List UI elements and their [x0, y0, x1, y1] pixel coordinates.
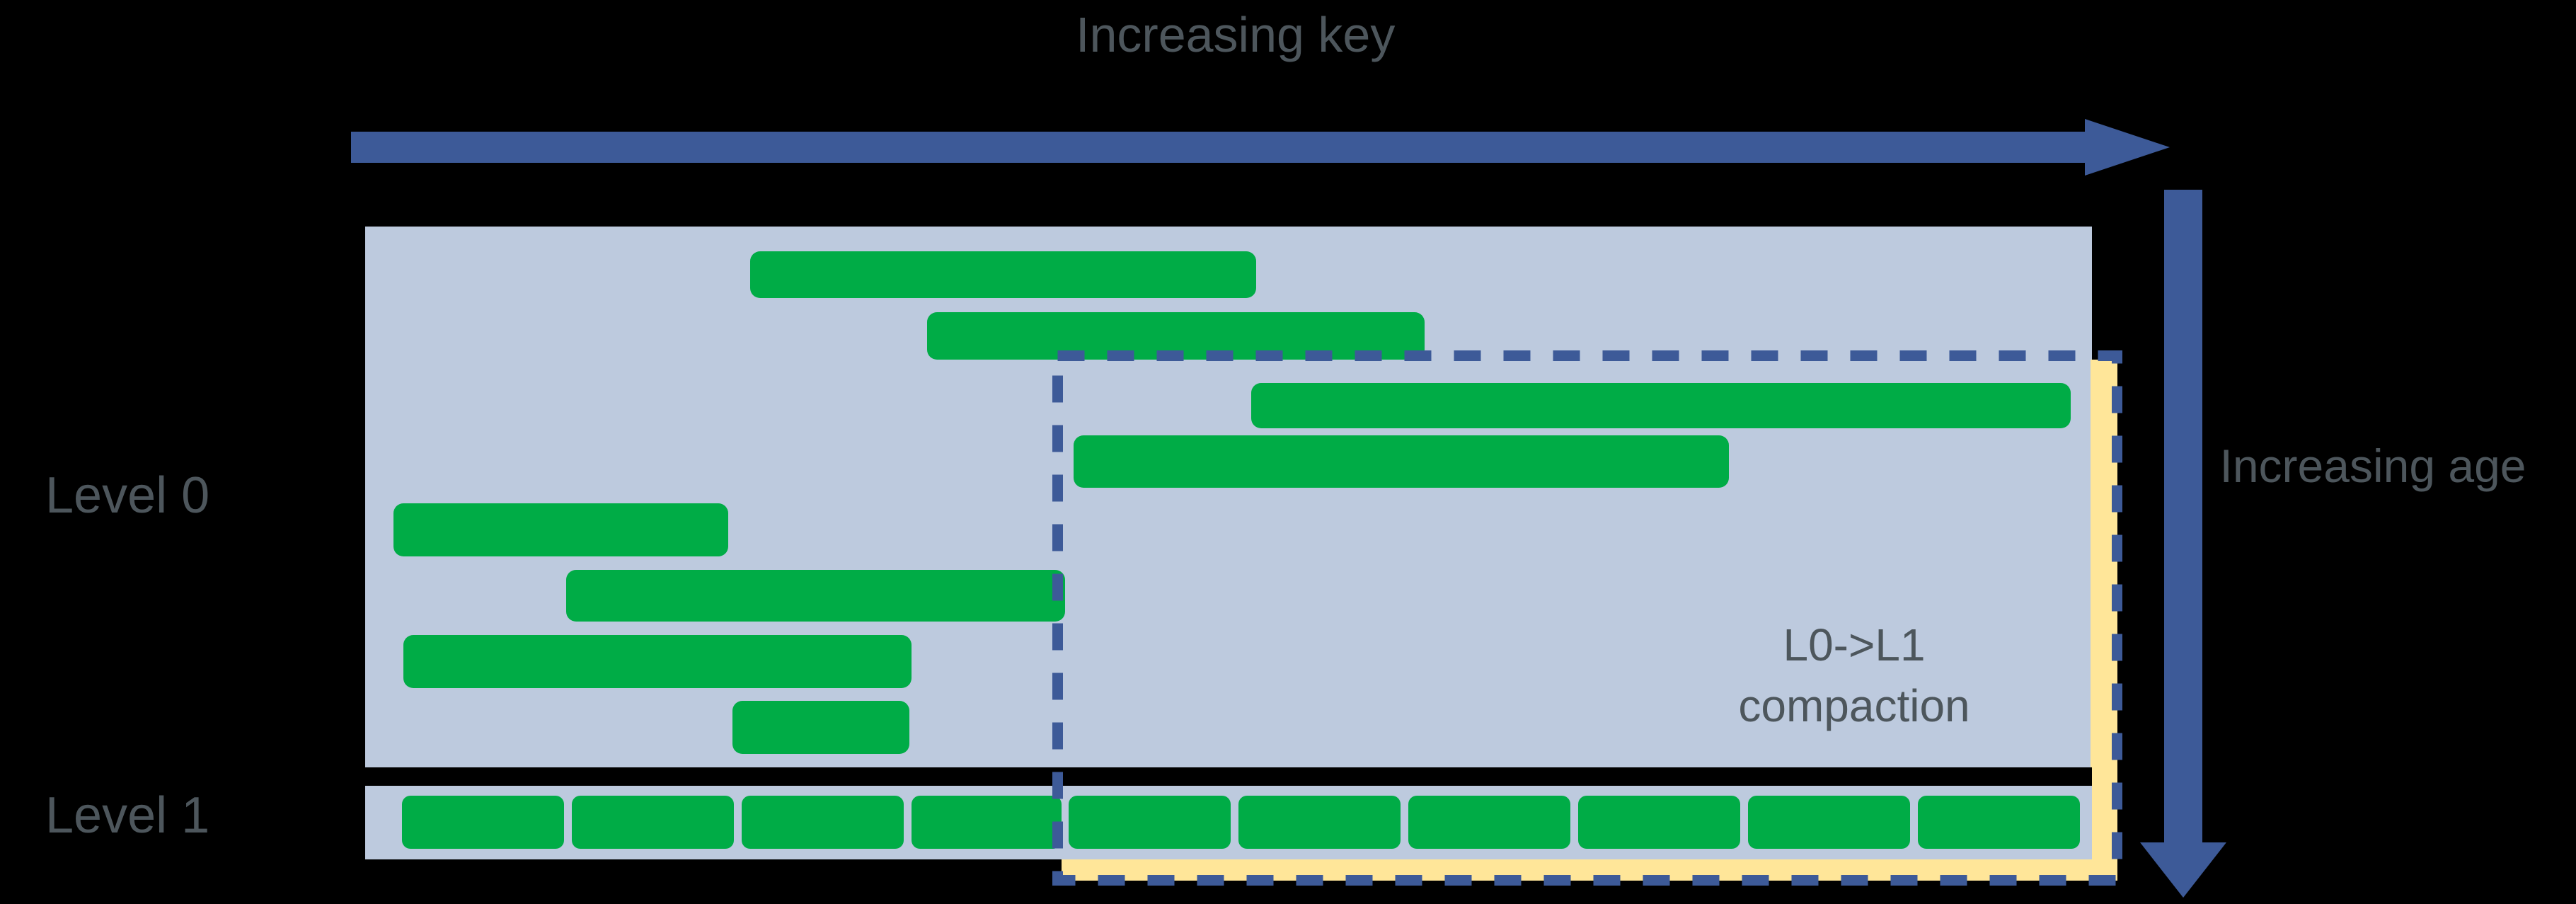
arrow-down-icon [2140, 190, 2226, 898]
sstable-l1-3[interactable] [742, 796, 904, 849]
level-divider [365, 767, 2092, 786]
compaction-line-1: L0->L1 [1783, 619, 1925, 670]
sstable-l1-5[interactable] [1069, 796, 1231, 849]
sstable-l1-9[interactable] [1748, 796, 1910, 849]
compaction-label: L0->L1compaction [1628, 614, 2081, 737]
sstable-l0-c[interactable] [1251, 383, 2071, 428]
sstable-l1-1[interactable] [402, 796, 564, 849]
sstable-l1-10[interactable] [1918, 796, 2080, 849]
sstable-l0-h[interactable] [732, 701, 909, 754]
sstable-l0-g[interactable] [403, 635, 912, 688]
increasing-key-label: Increasing key [1076, 6, 1395, 64]
sstable-l0-a[interactable] [750, 251, 1256, 298]
sstable-l1-6[interactable] [1238, 796, 1401, 849]
compaction-highlight-right [2091, 360, 2117, 881]
sstable-l0-b[interactable] [927, 312, 1425, 360]
sstable-l0-f[interactable] [566, 570, 1065, 622]
lsm-compaction-diagram: Increasing key Increasing age Level 0 Le… [0, 0, 2576, 904]
sstable-l1-2[interactable] [572, 796, 734, 849]
increasing-age-label: Increasing age [2207, 439, 2539, 494]
level-0-label: Level 0 [45, 466, 209, 526]
arrow-right-icon [351, 119, 2170, 176]
sstable-l1-7[interactable] [1408, 796, 1570, 849]
compaction-line-2: compaction [1738, 680, 1970, 731]
sstable-l1-4[interactable] [912, 796, 1062, 849]
sstable-l0-d[interactable] [1074, 435, 1729, 488]
sstable-l1-8[interactable] [1578, 796, 1740, 849]
sstable-l0-e[interactable] [393, 503, 728, 556]
level-1-label: Level 1 [45, 786, 209, 846]
